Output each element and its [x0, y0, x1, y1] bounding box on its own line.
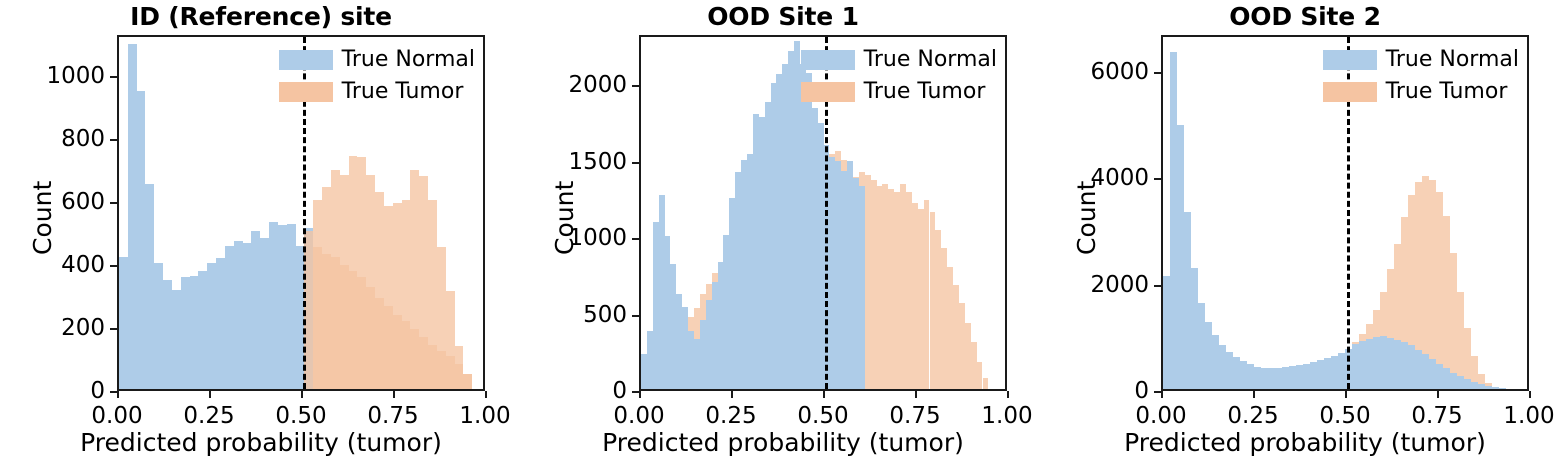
- histogram-bar: [428, 200, 437, 389]
- legend-item-normal: True Normal: [1323, 47, 1519, 72]
- y-tick-label: 1000: [46, 63, 105, 89]
- histogram-bar: [225, 246, 234, 389]
- histogram-bar: [1254, 367, 1261, 389]
- x-tick-label: 0.75: [367, 403, 418, 429]
- y-tick-mark: [632, 238, 639, 240]
- legend-item-tumor: True Tumor: [279, 79, 475, 104]
- panel-title: ID (Reference) site: [0, 2, 522, 31]
- x-tick-label: 0.00: [1135, 403, 1186, 429]
- histogram-bar: [1429, 359, 1436, 389]
- legend-item-normal: True Normal: [801, 47, 997, 72]
- histogram-bar: [1485, 386, 1492, 389]
- histogram-bar: [1219, 345, 1226, 389]
- y-tick-mark: [110, 76, 117, 78]
- y-tick-mark: [110, 265, 117, 267]
- y-tick-label: 1500: [568, 149, 627, 175]
- histogram-bar: [384, 206, 393, 389]
- histogram-bar: [1233, 357, 1240, 389]
- y-axis-label: Count: [550, 181, 579, 255]
- legend-label: True Tumor: [1386, 79, 1508, 104]
- y-tick-label: 0: [90, 378, 105, 404]
- y-tick-mark: [110, 328, 117, 330]
- histogram-bar: [437, 247, 446, 389]
- x-tick-label: 1.00: [1503, 403, 1554, 429]
- legend-swatch-tumor: [1323, 82, 1377, 102]
- histogram-bar: [1422, 354, 1429, 389]
- y-tick-mark: [632, 85, 639, 87]
- histogram-bar: [1289, 366, 1296, 389]
- legend-item-normal: True Normal: [279, 47, 475, 72]
- histogram-bar: [243, 243, 252, 389]
- histogram-bar: [1317, 360, 1324, 389]
- legend-label: True Tumor: [342, 79, 464, 104]
- x-tick-mark: [301, 391, 303, 398]
- histogram-bar: [1415, 350, 1422, 389]
- x-tick-label: 0.00: [613, 403, 664, 429]
- histogram-bar: [1177, 125, 1184, 389]
- histogram-bar: [1450, 253, 1457, 389]
- legend-swatch-normal: [801, 50, 855, 70]
- y-tick-label: 800: [61, 126, 105, 152]
- histogram-bar: [313, 200, 322, 389]
- histogram-bar: [1338, 353, 1345, 389]
- histogram-bar: [419, 176, 428, 389]
- x-tick-label: 0.00: [91, 403, 142, 429]
- histogram-bar: [322, 187, 331, 389]
- histogram-bar: [287, 224, 296, 389]
- x-tick-mark: [209, 391, 211, 398]
- y-tick-label: 500: [583, 302, 627, 328]
- histogram-bar: [1352, 344, 1359, 389]
- histogram-bar: [983, 378, 989, 389]
- panel-title: OOD Site 1: [522, 2, 1044, 31]
- y-tick-mark: [1154, 285, 1161, 287]
- histogram-bar: [463, 374, 472, 389]
- histogram-bar: [859, 186, 865, 389]
- histogram-bar: [1191, 268, 1198, 389]
- histogram-bar: [278, 225, 287, 389]
- panel-1: ID (Reference) siteTrue NormalTrue Tumor…: [0, 0, 522, 470]
- y-tick-label: 200: [61, 315, 105, 341]
- histogram-bar: [1226, 352, 1233, 389]
- histogram-bar: [1387, 338, 1394, 389]
- histogram-bar: [1303, 364, 1310, 389]
- histogram-bar: [1198, 303, 1205, 389]
- histogram-bar: [137, 91, 146, 389]
- x-tick-mark: [1007, 391, 1009, 398]
- plot-area: True NormalTrue Tumor: [1161, 35, 1529, 391]
- y-tick-mark: [1154, 72, 1161, 74]
- histogram-bar: [1443, 368, 1450, 389]
- histogram-bar: [1401, 342, 1408, 389]
- histogram-bar: [1471, 382, 1478, 389]
- legend-label: True Tumor: [864, 79, 986, 104]
- histogram-bar: [357, 157, 366, 389]
- x-axis-label: Predicted probability (tumor): [1044, 428, 1565, 457]
- histogram-bar: [234, 241, 243, 389]
- histogram-bar: [190, 276, 199, 389]
- panel-3: OOD Site 2True NormalTrue Tumor020004000…: [1044, 0, 1565, 470]
- plot-area: True NormalTrue Tumor: [639, 35, 1007, 391]
- histogram-bar: [340, 175, 349, 389]
- histogram-bar: [1282, 367, 1289, 389]
- legend-swatch-tumor: [801, 82, 855, 102]
- histogram-bar: [366, 175, 375, 389]
- x-tick-label: 0.25: [183, 403, 234, 429]
- legend-label: True Normal: [1386, 47, 1519, 72]
- histogram-bar: [251, 231, 260, 389]
- histogram-bar: [455, 346, 464, 389]
- x-tick-mark: [1161, 391, 1163, 398]
- y-tick-mark: [1154, 391, 1161, 393]
- histogram-bar: [207, 263, 216, 389]
- histogram-bar: [1170, 52, 1177, 389]
- histogram-bar: [1457, 292, 1464, 389]
- y-tick-mark: [110, 391, 117, 393]
- histogram-bar: [216, 258, 225, 389]
- histogram-bar: [393, 203, 402, 389]
- legend-swatch-normal: [279, 50, 333, 70]
- legend: True NormalTrue Tumor: [1323, 47, 1519, 104]
- y-tick-label: 2000: [568, 72, 627, 98]
- histogram-bar: [1240, 361, 1247, 389]
- x-tick-label: 0.25: [705, 403, 756, 429]
- histogram-bar: [1163, 276, 1170, 389]
- histogram-bar: [1275, 368, 1282, 389]
- histogram-bar: [181, 277, 190, 389]
- histogram-bar: [145, 184, 154, 389]
- x-tick-mark: [639, 391, 641, 398]
- legend-item-tumor: True Tumor: [801, 79, 997, 104]
- histogram-bar: [349, 156, 358, 389]
- histogram-bar: [1429, 180, 1436, 389]
- x-tick-mark: [117, 391, 119, 398]
- legend-swatch-normal: [1323, 50, 1377, 70]
- y-tick-label: 400: [61, 252, 105, 278]
- y-tick-mark: [632, 162, 639, 164]
- x-tick-mark: [823, 391, 825, 398]
- histogram-bar: [402, 200, 411, 389]
- x-tick-mark: [1529, 391, 1531, 398]
- histogram-bar: [128, 44, 137, 389]
- histogram-bar: [1247, 364, 1254, 389]
- x-tick-label: 0.50: [275, 403, 326, 429]
- y-tick-label: 0: [612, 378, 627, 404]
- x-tick-mark: [1253, 391, 1255, 398]
- histogram-bar: [1464, 379, 1471, 389]
- y-tick-mark: [110, 202, 117, 204]
- histogram-bar: [1436, 192, 1443, 389]
- histogram-bar: [1359, 341, 1366, 389]
- histogram-bar: [163, 280, 172, 389]
- histogram-bar: [1394, 340, 1401, 389]
- legend: True NormalTrue Tumor: [279, 47, 475, 104]
- x-tick-mark: [915, 391, 917, 398]
- histogram-bar: [1205, 322, 1212, 389]
- y-tick-label: 2000: [1090, 272, 1149, 298]
- y-tick-label: 6000: [1090, 59, 1149, 85]
- x-axis-label: Predicted probability (tumor): [522, 428, 1044, 457]
- histogram-bar: [1184, 212, 1191, 389]
- histogram-bar: [119, 257, 128, 389]
- x-tick-label: 0.75: [889, 403, 940, 429]
- histogram-bar: [1373, 337, 1380, 389]
- x-tick-label: 1.00: [981, 403, 1032, 429]
- histogram-bar: [1443, 216, 1450, 389]
- x-tick-label: 1.00: [459, 403, 510, 429]
- legend-label: True Normal: [342, 47, 475, 72]
- histogram-bar: [154, 263, 163, 389]
- histogram-bar: [1310, 362, 1317, 389]
- legend: True NormalTrue Tumor: [801, 47, 997, 104]
- histogram-bar: [1261, 368, 1268, 389]
- legend-label: True Normal: [864, 47, 997, 72]
- histogram-bar: [1492, 387, 1499, 389]
- histogram-bar: [331, 170, 340, 389]
- x-tick-mark: [1345, 391, 1347, 398]
- histogram-bar: [410, 170, 419, 389]
- histogram-figure: ID (Reference) siteTrue NormalTrue Tumor…: [0, 0, 1565, 470]
- histogram-bar: [172, 290, 181, 389]
- y-tick-mark: [632, 315, 639, 317]
- histogram-bar: [1324, 358, 1331, 389]
- y-tick-mark: [632, 391, 639, 393]
- histogram-bar: [198, 271, 207, 389]
- histogram-bar: [1499, 388, 1506, 389]
- histogram-bar: [1268, 368, 1275, 389]
- histogram-bar: [375, 192, 384, 389]
- histogram-bar: [1450, 373, 1457, 389]
- x-tick-mark: [485, 391, 487, 398]
- x-tick-label: 0.25: [1227, 403, 1278, 429]
- x-tick-label: 0.50: [1319, 403, 1370, 429]
- histogram-bar: [260, 238, 269, 389]
- panel-2: OOD Site 1True NormalTrue Tumor050010001…: [522, 0, 1044, 470]
- histogram-bar: [269, 222, 278, 389]
- x-tick-mark: [731, 391, 733, 398]
- histogram-bar: [1296, 365, 1303, 389]
- histogram-bar: [1436, 364, 1443, 389]
- histogram-bar: [1366, 339, 1373, 389]
- x-tick-mark: [1437, 391, 1439, 398]
- y-axis-label: Count: [1072, 181, 1101, 255]
- y-tick-label: 600: [61, 189, 105, 215]
- x-axis-label: Predicted probability (tumor): [0, 428, 522, 457]
- y-tick-mark: [110, 139, 117, 141]
- x-tick-label: 0.50: [797, 403, 848, 429]
- histogram-bar: [1457, 376, 1464, 389]
- plot-area: True NormalTrue Tumor: [117, 35, 485, 391]
- x-tick-mark: [393, 391, 395, 398]
- y-axis-label: Count: [28, 181, 57, 255]
- histogram-bar: [1331, 356, 1338, 389]
- histogram-bar: [1212, 335, 1219, 389]
- histogram-bar: [446, 291, 455, 389]
- legend-swatch-tumor: [279, 82, 333, 102]
- legend-item-tumor: True Tumor: [1323, 79, 1519, 104]
- x-tick-label: 0.75: [1411, 403, 1462, 429]
- y-tick-label: 0: [1134, 378, 1149, 404]
- histogram-bar: [1380, 336, 1387, 389]
- y-tick-mark: [1154, 178, 1161, 180]
- histogram-bar: [1408, 345, 1415, 389]
- panel-title: OOD Site 2: [1044, 2, 1565, 31]
- histogram-bar: [1478, 384, 1485, 389]
